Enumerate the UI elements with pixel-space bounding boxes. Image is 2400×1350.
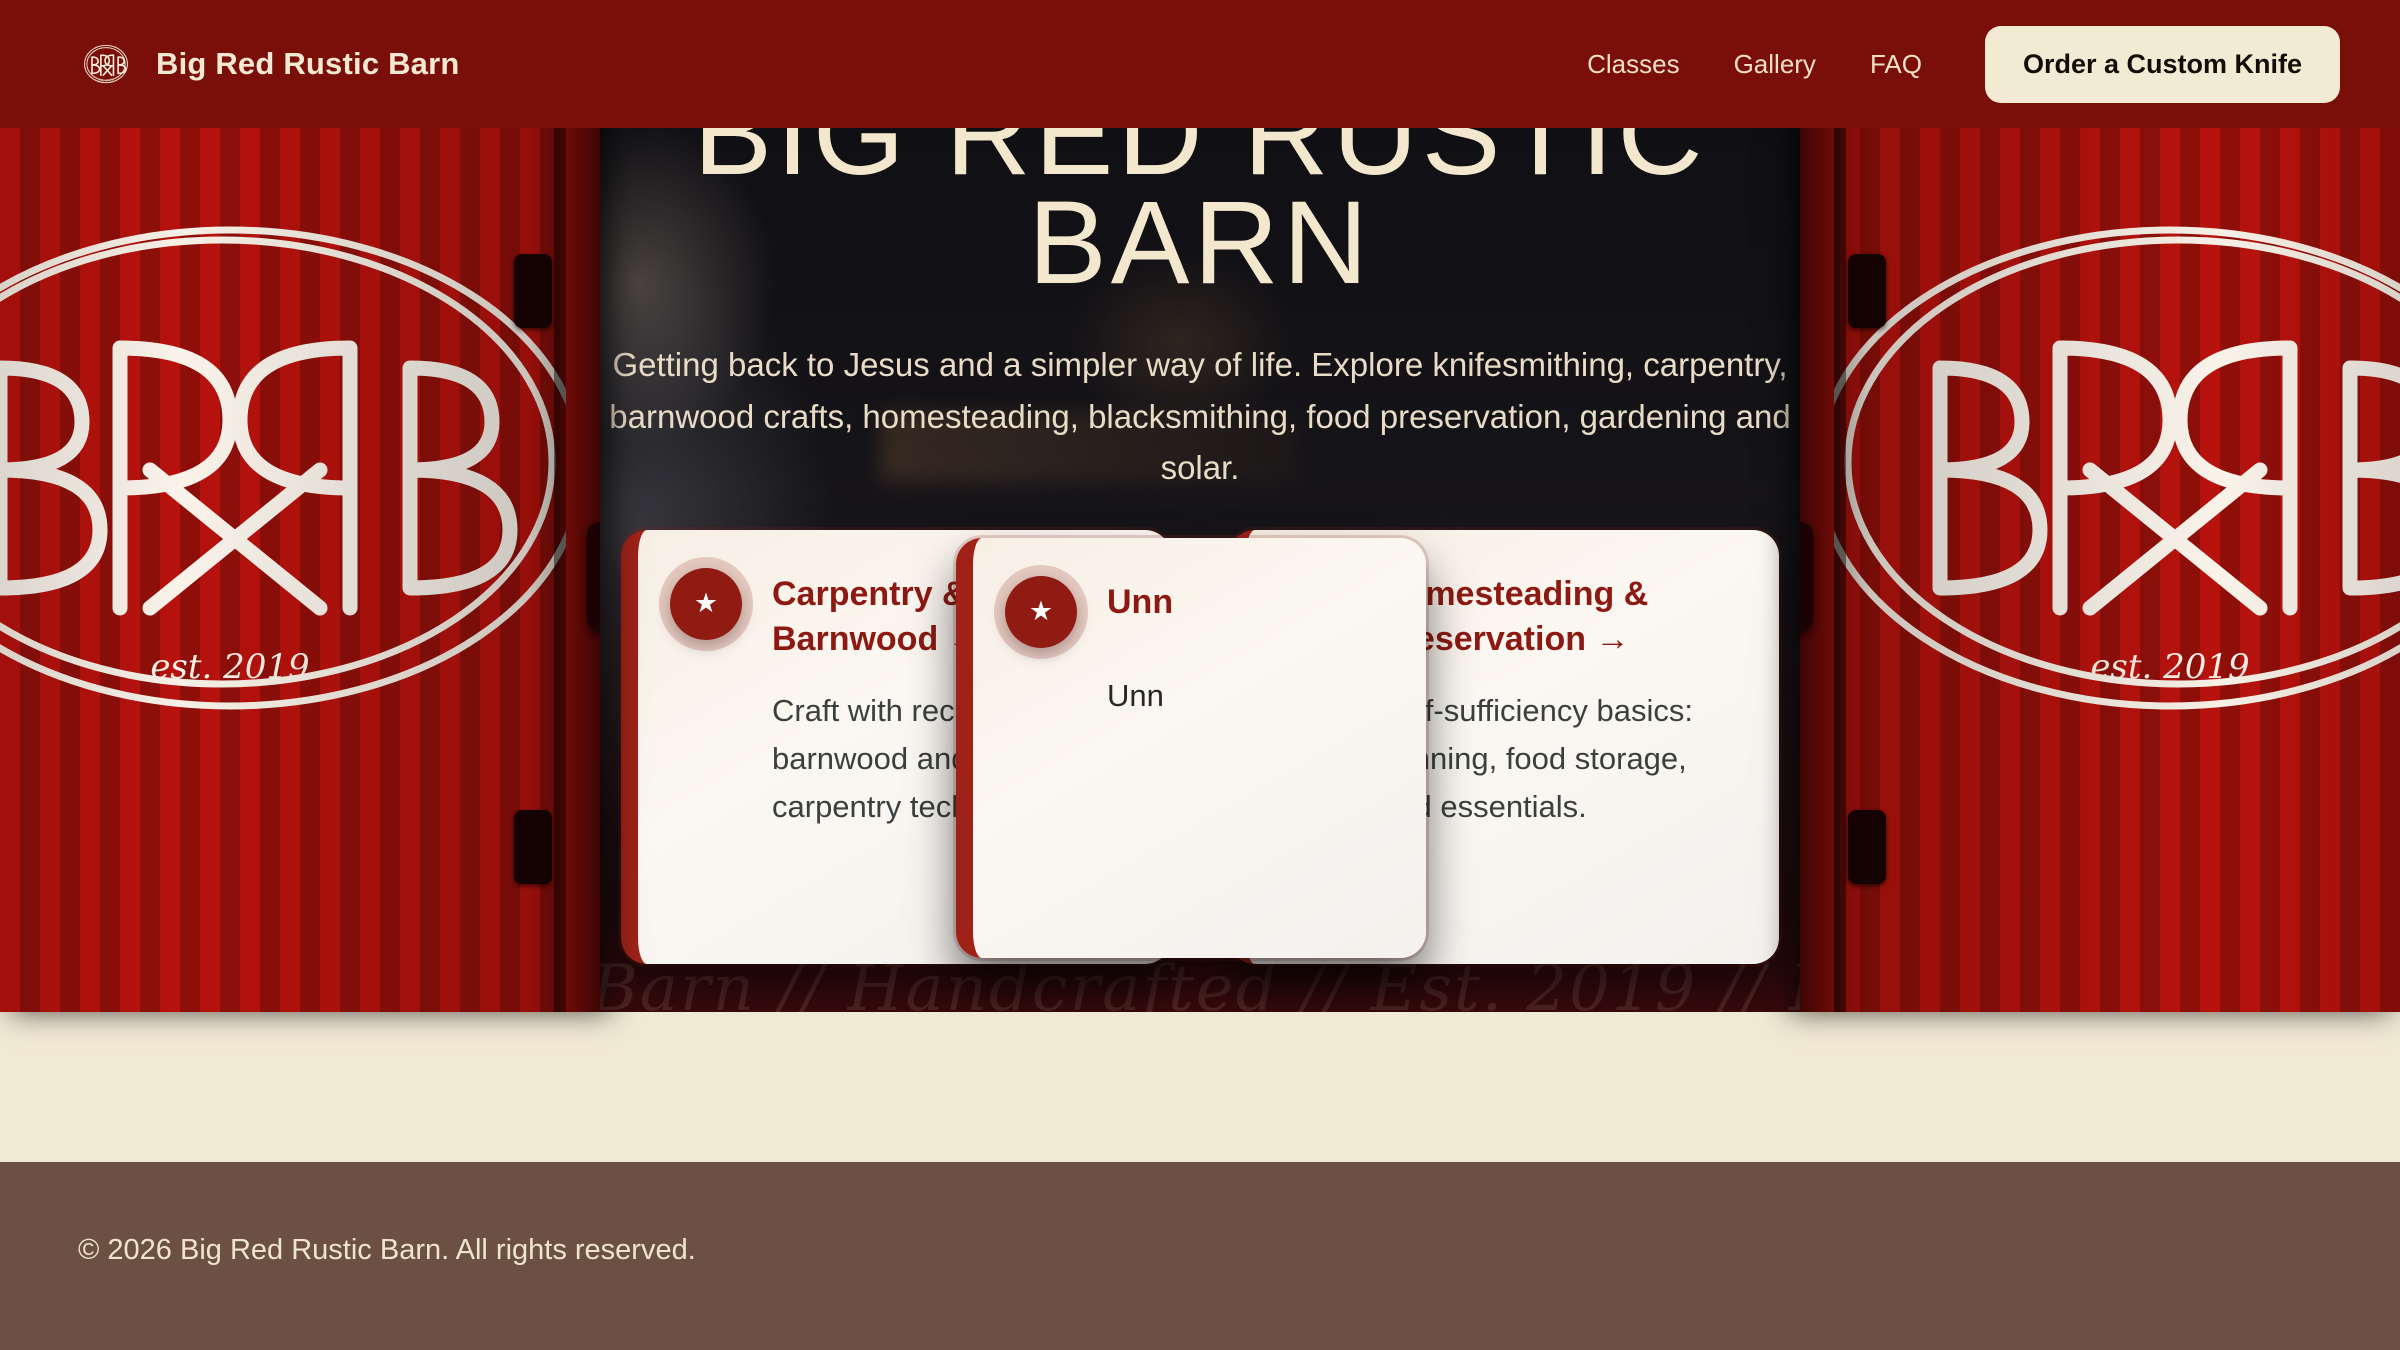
barn-door-handle[interactable]: [1800, 522, 1813, 632]
svg-text:est. 2019: est. 2019: [98, 79, 113, 83]
cream-band: [0, 1012, 2400, 1162]
nav-item-gallery[interactable]: Gallery: [1707, 49, 1843, 80]
nav-item-classes[interactable]: Classes: [1560, 49, 1706, 80]
brrb-monogram-icon: est. 2019: [78, 36, 134, 92]
star-icon: ★: [670, 568, 742, 640]
hero-subtitle: Getting back to Jesus and a simpler way …: [575, 339, 1825, 493]
barn-door-hinge-icon: [1848, 254, 1886, 328]
order-custom-knife-button[interactable]: Order a Custom Knife: [1985, 26, 2340, 103]
brand-name: Big Red Rustic Barn: [156, 46, 460, 82]
barn-door-left[interactable]: est. 2019: [0, 112, 600, 1012]
hero-card-hidden[interactable]: ★ Unn Unn: [956, 538, 1426, 958]
brand[interactable]: est. 2019 Big Red Rustic Barn: [78, 36, 460, 92]
card-title: Homesteading & Preservation →: [1380, 568, 1739, 663]
site-header: est. 2019 Big Red Rustic Barn Classes Ga…: [0, 0, 2400, 128]
card-body: Self-sufficiency basics: canning, food s…: [1380, 687, 1739, 831]
hero-title: BIG RED RUSTIC BARN: [580, 112, 1820, 297]
barn-door-handle[interactable]: [587, 522, 600, 632]
main-nav: Classes Gallery FAQ Order a Custom Knife: [1560, 26, 2340, 103]
barn-door-hinge-icon: [1848, 810, 1886, 884]
footer-copyright: © 2026 Big Red Rustic Barn. All rights r…: [78, 1234, 696, 1267]
barn-door-hinge-icon: [514, 810, 552, 884]
nav-item-faq[interactable]: FAQ: [1843, 49, 1949, 80]
card-body: Unn: [1107, 672, 1386, 720]
site-footer: © 2026 Big Red Rustic Barn. All rights r…: [0, 1162, 2400, 1350]
barn-door-right[interactable]: est. 2019: [1800, 112, 2400, 1012]
barn-door-hinge-icon: [514, 254, 552, 328]
star-icon: ★: [1005, 576, 1077, 648]
card-title: Unn: [1107, 576, 1173, 626]
hero-card-row: ★ Unn Unn ★ Carpentry & Barnwood → Craft…: [570, 530, 1830, 964]
